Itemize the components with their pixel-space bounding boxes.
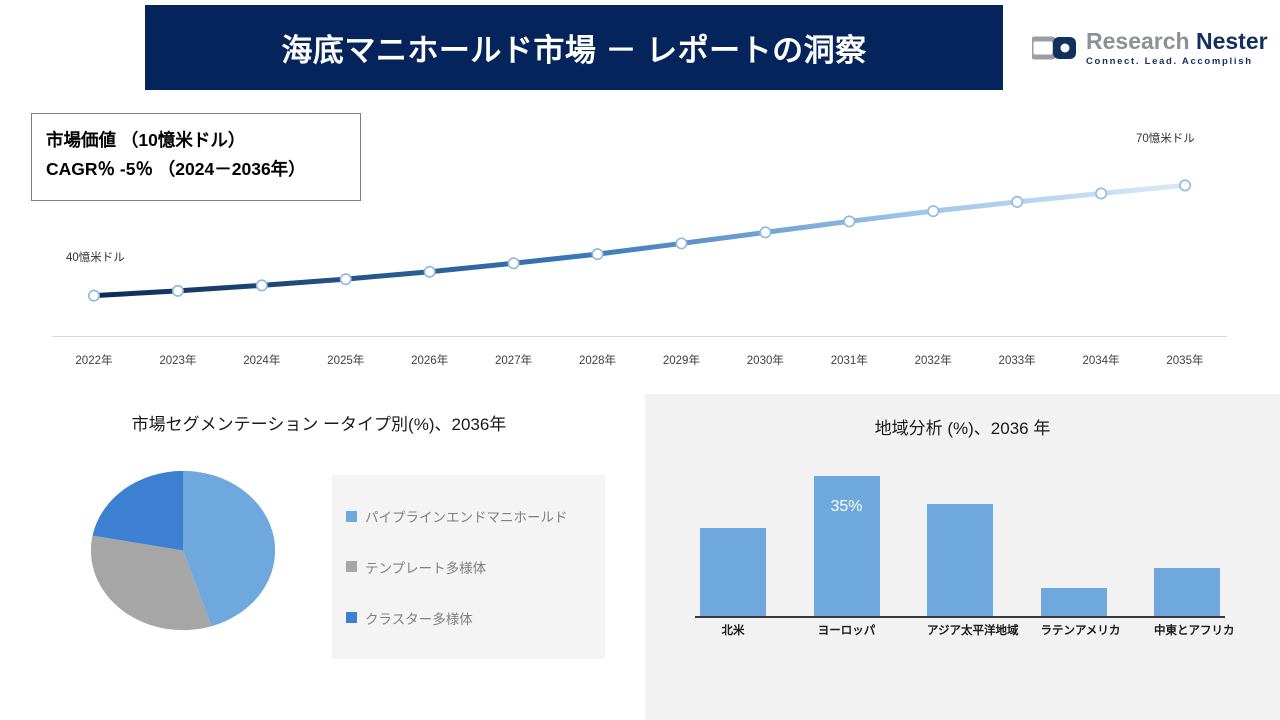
line-data-point — [1012, 197, 1022, 207]
line-data-point — [89, 290, 99, 300]
bar-column — [700, 456, 766, 616]
line-data-point — [844, 216, 854, 226]
line-data-point — [760, 227, 770, 237]
bar-column: 35% — [814, 456, 880, 616]
logo-tagline: Connect. Lead. Accomplish — [1086, 57, 1268, 67]
logo-wordmark: Research Nester Connect. Lead. Accomplis… — [1086, 30, 1268, 67]
bar-x-tick: 中東とアフリカ — [1154, 622, 1220, 638]
linked-chain-icon — [1032, 33, 1078, 63]
line-data-point — [1180, 180, 1190, 190]
bar-rect — [1154, 568, 1220, 616]
legend-label: クラスター多様体 — [365, 608, 473, 628]
line-x-tick: 2030年 — [723, 352, 807, 374]
bar-rect — [1041, 588, 1107, 616]
legend-item: クラスター多様体 — [346, 608, 605, 628]
line-x-tick: 2033年 — [975, 352, 1059, 374]
line-data-point — [592, 249, 602, 259]
line-x-tick: 2026年 — [388, 352, 472, 374]
line-x-tick: 2025年 — [304, 352, 388, 374]
line-data-point — [676, 238, 686, 248]
pie-chart-title: 市場セグメンテーション ータイプ別(%)、2036年 — [0, 410, 638, 435]
logo-name-research: Research — [1086, 28, 1196, 54]
legend-label: パイプラインエンドマニホールド — [365, 506, 568, 526]
bar-x-tick: アジア太平洋地域 — [927, 622, 993, 638]
bar-rect — [700, 528, 766, 616]
line-chart-x-labels: 2022年2023年2024年2025年2026年2027年2028年2029年… — [52, 352, 1227, 374]
line-x-tick: 2034年 — [1059, 352, 1143, 374]
line-x-tick: 2031年 — [807, 352, 891, 374]
line-data-point — [928, 206, 938, 216]
line-data-point — [424, 267, 434, 277]
line-x-tick: 2024年 — [220, 352, 304, 374]
bar-column — [1041, 456, 1107, 616]
legend-item: テンプレート多様体 — [346, 557, 605, 577]
regional-analysis-panel: 地域分析 (%)、2036 年 35% 北米ヨーロッパアジア太平洋地域ラテンアメ… — [645, 394, 1280, 720]
line-x-tick: 2028年 — [556, 352, 640, 374]
bar-chart-axis — [695, 616, 1225, 618]
line-data-point — [257, 280, 267, 290]
bar-value-label: 35% — [814, 498, 880, 516]
line-data-point — [508, 258, 518, 268]
segmentation-panel: 市場セグメンテーション ータイプ別(%)、2036年 パイプラインエンドマニホー… — [0, 392, 638, 720]
pie-chart — [87, 468, 279, 633]
page-title: 海底マニホールド市場 － レポートの洞察 — [281, 25, 866, 70]
line-x-tick: 2022年 — [52, 352, 136, 374]
bar-rect: 35% — [814, 476, 880, 616]
bar-rect — [927, 504, 993, 616]
line-data-point — [173, 286, 183, 296]
legend-swatch-icon — [346, 511, 357, 522]
legend-swatch-icon — [346, 561, 357, 572]
legend-label: テンプレート多様体 — [365, 557, 486, 577]
line-data-point — [341, 274, 351, 284]
header-banner: 海底マニホールド市場 － レポートの洞察 — [145, 5, 1003, 90]
legend-swatch-icon — [346, 612, 357, 623]
bar-x-tick: 北米 — [700, 622, 766, 638]
market-value-label: 市場価値 （10憶米ドル） — [46, 126, 360, 155]
bar-chart-plot: 35% — [700, 456, 1220, 616]
brand-logo: Research Nester Connect. Lead. Accomplis… — [1032, 24, 1262, 72]
bar-chart-title: 地域分析 (%)、2036 年 — [645, 414, 1280, 439]
bar-chart-x-labels: 北米ヨーロッパアジア太平洋地域ラテンアメリカ中東とアフリカ — [700, 622, 1220, 638]
line-chart-axis — [52, 336, 1227, 337]
logo-name-nester: Nester — [1196, 28, 1268, 54]
pie-chart-legend: パイプラインエンドマニホールドテンプレート多様体クラスター多様体 — [332, 475, 605, 659]
line-x-tick: 2029年 — [639, 352, 723, 374]
line-x-tick: 2023年 — [136, 352, 220, 374]
report-infographic-page: 海底マニホールド市場 － レポートの洞察 Research Nester Con… — [0, 0, 1280, 720]
bar-x-tick: ヨーロッパ — [814, 622, 880, 638]
legend-item: パイプラインエンドマニホールド — [346, 506, 605, 526]
bar-column — [927, 456, 993, 616]
cagr-label: CAGR％ -5％ （2024－2036年） — [46, 155, 360, 184]
bar-column — [1154, 456, 1220, 616]
market-value-info-box: 市場価値 （10憶米ドル） CAGR％ -5％ （2024－2036年） — [31, 113, 361, 201]
line-x-tick: 2032年 — [891, 352, 975, 374]
line-x-tick: 2027年 — [472, 352, 556, 374]
line-x-tick: 2035年 — [1143, 352, 1227, 374]
line-data-point — [1096, 188, 1106, 198]
bar-x-tick: ラテンアメリカ — [1041, 622, 1107, 638]
